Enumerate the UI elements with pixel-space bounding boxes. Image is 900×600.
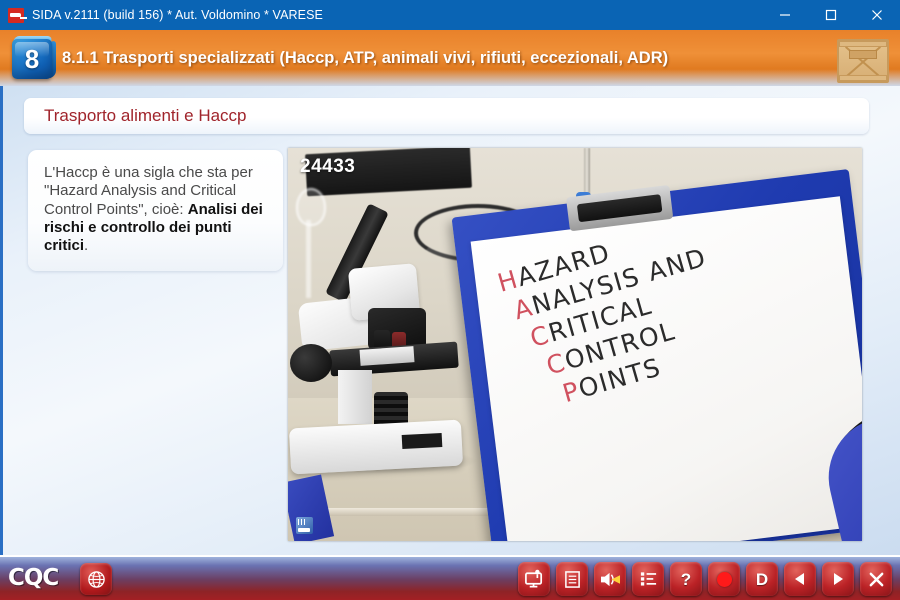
next-icon[interactable] xyxy=(822,562,854,596)
section-title: Trasporto alimenti e Haccp xyxy=(44,106,247,126)
chapter-title: 8.1.1 Trasporti specializzati (Haccp, AT… xyxy=(62,30,668,86)
close-icon[interactable] xyxy=(860,562,892,596)
list-icon[interactable] xyxy=(632,562,664,596)
lesson-paragraph: L'Haccp è una sigla che sta per "Hazard … xyxy=(44,164,267,255)
dictionary-icon[interactable]: D xyxy=(746,562,778,596)
window-titlebar: SIDA v.2111 (build 156) * Aut. Voldomino… xyxy=(0,0,900,30)
dictionary-label: D xyxy=(756,571,768,588)
sida-logo-icon xyxy=(296,517,313,534)
lesson-text-card: L'Haccp è una sigla che sta per "Hazard … xyxy=(28,150,283,271)
audio-play-icon[interactable] xyxy=(594,562,626,596)
lesson-image[interactable]: HAZARD ANALYSIS AND CRITICAL CONTROL POI… xyxy=(288,148,862,541)
section-header: Trasporto alimenti e Haccp xyxy=(24,98,869,134)
window-controls xyxy=(762,0,900,30)
application-window: SIDA v.2111 (build 156) * Aut. Voldomino… xyxy=(0,0,900,600)
maximize-icon[interactable] xyxy=(808,0,854,30)
wooden-crate-icon xyxy=(835,37,891,85)
minimize-icon[interactable] xyxy=(762,0,808,30)
document-icon[interactable] xyxy=(556,562,588,596)
toolbar-buttons: ? D xyxy=(518,562,892,596)
globe-icon[interactable] xyxy=(80,563,112,595)
close-icon[interactable] xyxy=(854,0,900,30)
cqc-brand-logo: CQC xyxy=(8,565,72,591)
paragraph-plain-2: . xyxy=(84,237,88,254)
lab-glassware xyxy=(294,188,324,298)
chapter-number-badge: 8 xyxy=(9,36,55,82)
clipboard: HAZARD ANALYSIS AND CRITICAL CONTROL POI… xyxy=(452,169,862,541)
help-label: ? xyxy=(681,571,691,588)
record-icon[interactable] xyxy=(708,562,740,596)
chapter-number-label: 8 xyxy=(12,39,52,79)
previous-icon[interactable] xyxy=(784,562,816,596)
image-id-label: 24433 xyxy=(300,156,355,178)
truck-icon xyxy=(8,8,24,23)
help-icon[interactable]: ? xyxy=(670,562,702,596)
window-title: SIDA v.2111 (build 156) * Aut. Voldomino… xyxy=(32,8,323,22)
bottom-toolbar: CQC xyxy=(0,555,900,600)
chapter-header: 8 8.1.1 Trasporti specializzati (Haccp, … xyxy=(0,30,900,86)
screen-icon[interactable] xyxy=(518,562,550,596)
